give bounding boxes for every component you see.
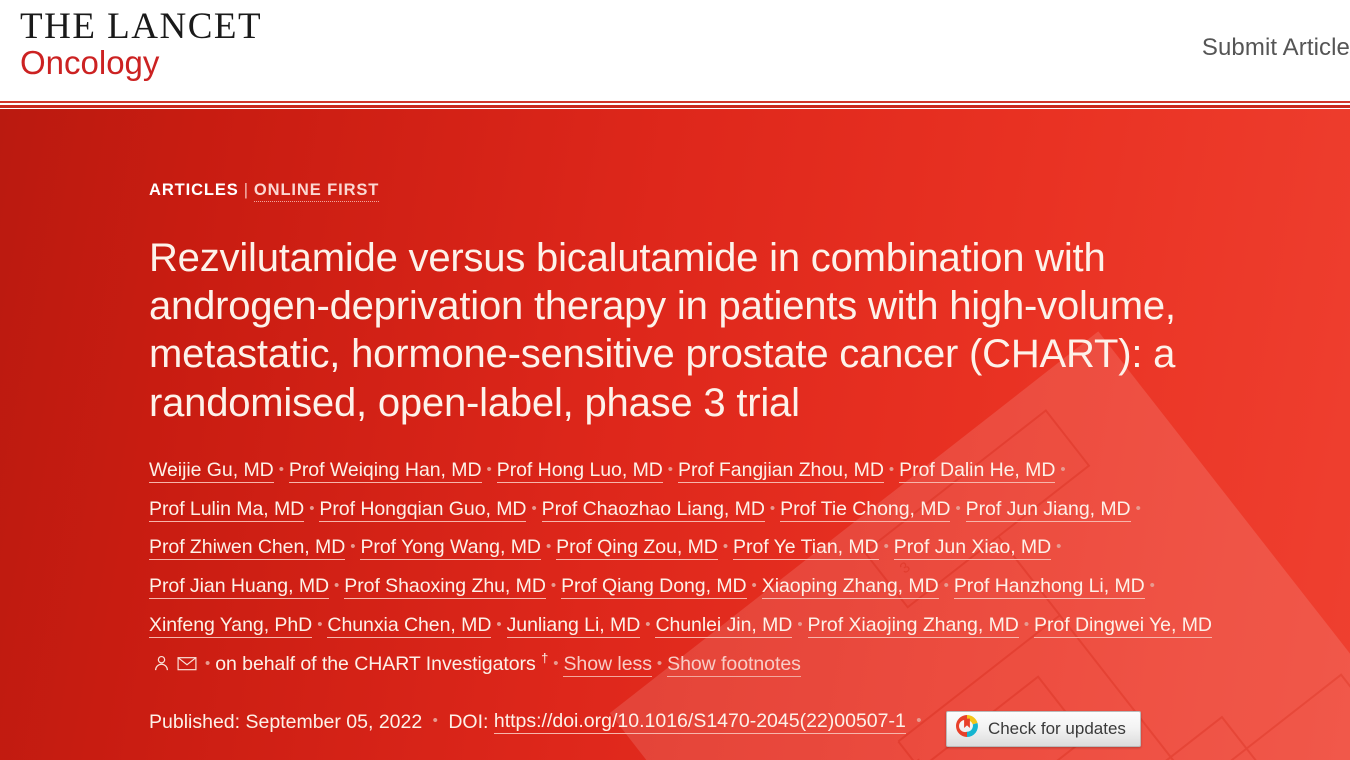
author-separator-bullet: • (553, 649, 558, 679)
author-link[interactable]: Weijie Gu, MD (149, 459, 274, 483)
author-separator-bullet: • (531, 494, 536, 524)
author-separator-bullet: • (546, 532, 551, 562)
author-link[interactable]: Prof Zhiwen Chen, MD (149, 536, 345, 560)
author-link[interactable]: Prof Jun Xiao, MD (894, 536, 1051, 560)
header-divider-line-2 (0, 105, 1350, 108)
corresponding-author-link[interactable]: Prof Dingwei Ye, MD (1034, 614, 1212, 638)
author-separator-bullet: • (1056, 532, 1061, 562)
author-link[interactable]: Prof Hong Luo, MD (497, 459, 663, 483)
person-icon[interactable] (152, 648, 171, 687)
show-footnotes-toggle[interactable]: Show footnotes (667, 653, 801, 677)
author-link[interactable]: Prof Jun Jiang, MD (966, 498, 1131, 522)
crossmark-logo-icon (955, 714, 979, 743)
author-separator-bullet: • (770, 494, 775, 524)
author-separator-bullet: • (317, 610, 322, 640)
author-separator-bullet: • (279, 455, 284, 485)
author-separator-bullet: • (1150, 571, 1155, 601)
author-separator-bullet: • (350, 532, 355, 562)
author-separator-bullet: • (668, 455, 673, 485)
author-link[interactable]: Prof Hanzhong Li, MD (954, 575, 1145, 599)
author-link[interactable]: Prof Shaoxing Zhu, MD (344, 575, 546, 599)
author-link[interactable]: Prof Hongqian Guo, MD (319, 498, 526, 522)
author-links-container: Weijie Gu, MD•Prof Weiqing Han, MD•Prof … (149, 459, 1212, 675)
group-footnote-marker[interactable]: † (541, 650, 548, 665)
published-label: Published: (149, 710, 240, 732)
online-first-badge[interactable]: ONLINE FIRST (254, 181, 379, 202)
author-separator-bullet: • (797, 610, 802, 640)
logo-lancet-text: THE LANCET (20, 8, 262, 47)
author-link[interactable]: Prof Qiang Dong, MD (561, 575, 746, 599)
author-separator-bullet: • (955, 494, 960, 524)
author-link[interactable]: Prof Dalin He, MD (899, 459, 1055, 483)
doi-label: DOI: (448, 710, 488, 732)
author-link[interactable]: Prof Weiqing Han, MD (289, 459, 482, 483)
envelope-icon[interactable] (177, 648, 197, 687)
author-separator-bullet: • (1024, 610, 1029, 640)
author-link[interactable]: Prof Lulin Ma, MD (149, 498, 304, 522)
author-link[interactable]: Prof Xiaojing Zhang, MD (808, 614, 1019, 638)
author-link[interactable]: Chunxia Chen, MD (327, 614, 491, 638)
author-link[interactable]: Prof Yong Wang, MD (360, 536, 540, 560)
author-link[interactable]: Chunlei Jin, MD (655, 614, 792, 638)
author-separator-bullet: • (205, 649, 210, 679)
pubinfo-bullet: • (433, 713, 438, 728)
page-title: Rezvilutamide versus bicalutamide in com… (149, 234, 1249, 427)
crossmark-label: Check for updates (988, 720, 1126, 737)
author-separator-bullet: • (551, 571, 556, 601)
author-link[interactable]: Xinfeng Yang, PhD (149, 614, 312, 638)
article-hero-content: ARTICLES|ONLINE FIRST Rezvilutamide vers… (149, 181, 1269, 747)
show-less-toggle[interactable]: Show less (563, 653, 651, 677)
article-type-label: ARTICLES (149, 181, 239, 199)
journal-logo[interactable]: THE LANCET Oncology (20, 8, 262, 82)
doi-link[interactable]: https://doi.org/10.1016/S1470-2045(22)00… (494, 710, 906, 734)
author-link[interactable]: Prof Ye Tian, MD (733, 536, 879, 560)
author-separator-bullet: • (884, 532, 889, 562)
published-date: September 05, 2022 (246, 710, 423, 732)
crossmark-check-for-updates-button[interactable]: Check for updates (946, 711, 1141, 747)
article-hero-banner: 218 ongoing at interim progression-free … (0, 109, 1350, 760)
author-link[interactable]: Prof Qing Zou, MD (556, 536, 718, 560)
author-separator-bullet: • (657, 649, 662, 679)
author-separator-bullet: • (944, 571, 949, 601)
author-separator-bullet: • (1060, 455, 1065, 485)
header-nav: Submit Article (1202, 34, 1350, 62)
author-link[interactable]: Xiaoping Zhang, MD (762, 575, 939, 599)
author-separator-bullet: • (1136, 494, 1141, 524)
author-separator-bullet: • (334, 571, 339, 601)
author-link[interactable]: Prof Jian Huang, MD (149, 575, 329, 599)
submit-article-link[interactable]: Submit Article (1202, 34, 1350, 61)
author-separator-bullet: • (645, 610, 650, 640)
author-list: Weijie Gu, MD•Prof Weiqing Han, MD•Prof … (149, 451, 1224, 687)
header-divider (0, 101, 1350, 109)
author-separator-bullet: • (752, 571, 757, 601)
group-attribution: on behalf of the CHART Investigators † (215, 653, 548, 675)
author-link[interactable]: Prof Fangjian Zhou, MD (678, 459, 884, 483)
logo-oncology-text: Oncology (20, 45, 262, 82)
kicker-separator: | (244, 181, 249, 199)
author-link[interactable]: Prof Tie Chong, MD (780, 498, 950, 522)
pubinfo-bullet-2: • (916, 713, 921, 728)
publication-info: Published: September 05, 2022 • DOI: htt… (149, 711, 1269, 747)
article-kicker: ARTICLES|ONLINE FIRST (149, 181, 1269, 200)
author-separator-bullet: • (487, 455, 492, 485)
author-link[interactable]: Junliang Li, MD (507, 614, 641, 638)
author-separator-bullet: • (889, 455, 894, 485)
author-link[interactable]: Prof Chaozhao Liang, MD (542, 498, 765, 522)
author-separator-bullet: • (309, 494, 314, 524)
author-separator-bullet: • (496, 610, 501, 640)
author-separator-bullet: • (723, 532, 728, 562)
site-header: THE LANCET Oncology Submit Article (0, 0, 1350, 106)
page-root: THE LANCET Oncology Submit Article (0, 0, 1350, 760)
